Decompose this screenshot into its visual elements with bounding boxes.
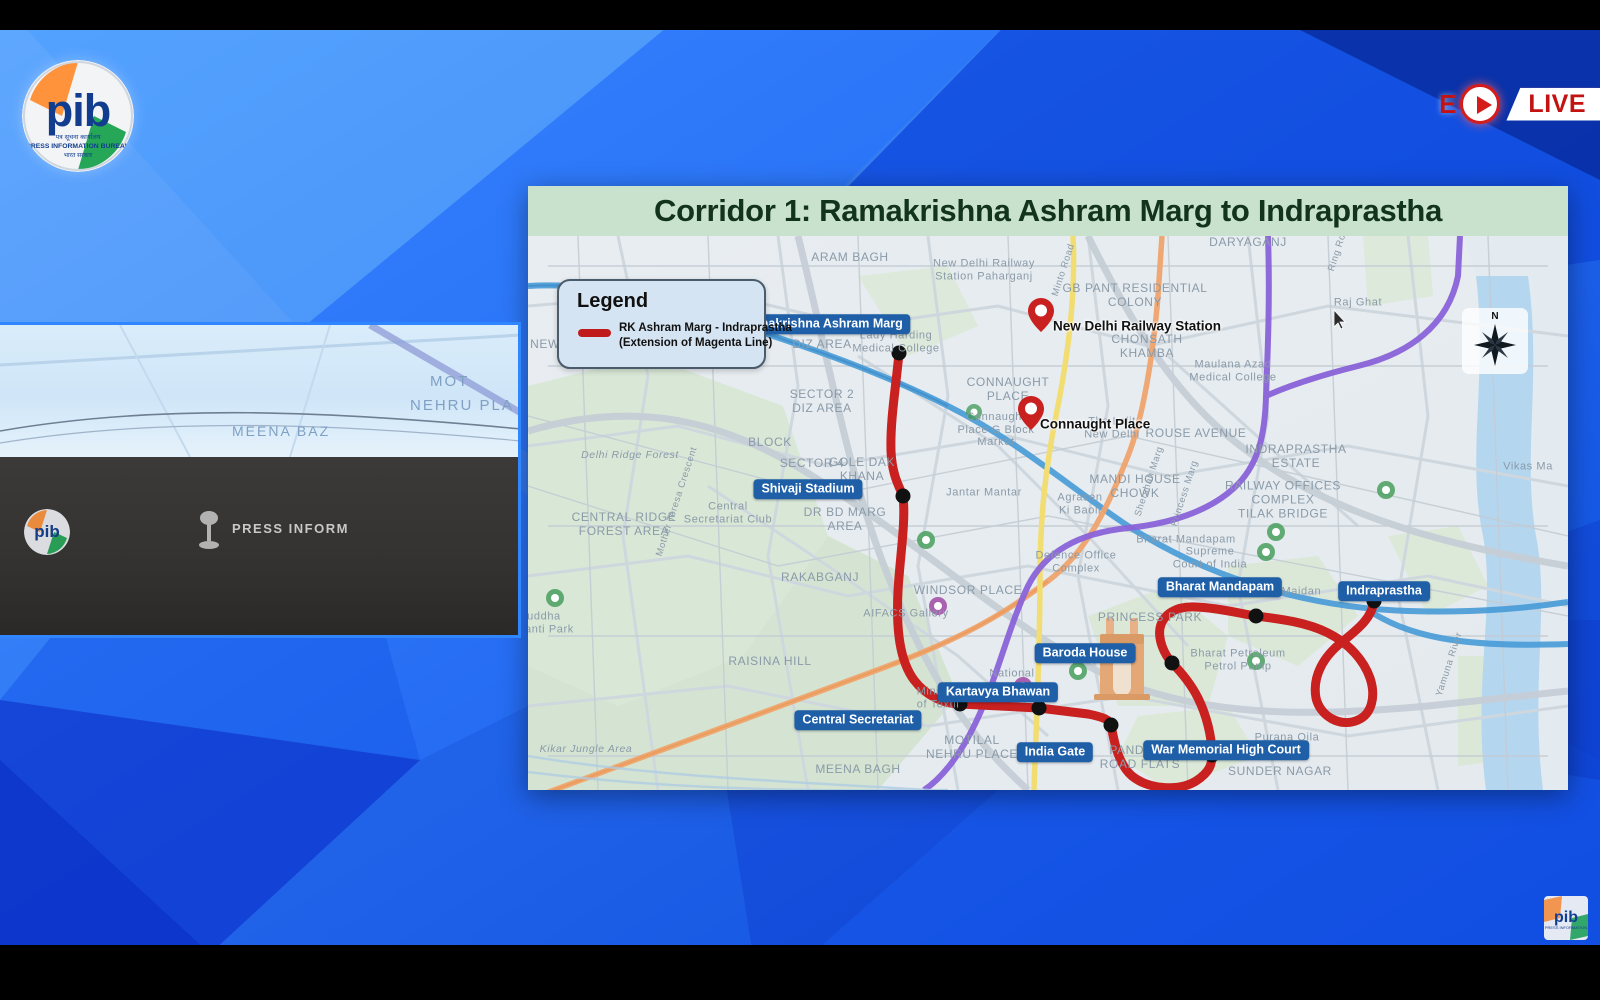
svg-text:pib: pib bbox=[34, 522, 60, 541]
legend-heading: Legend bbox=[577, 290, 648, 313]
legend-entry-line-2: (Extension of Magenta Line) bbox=[619, 337, 772, 349]
station-label-kartavya-bhawan[interactable]: Kartavya Bhawan bbox=[938, 682, 1058, 702]
broadcast-stage: pib पत्र सूचना कार्यालय PRESS INFORMATIO… bbox=[0, 0, 1600, 1000]
presenter-video-inset: MEENA BAZ MOT NEHRU PLA pib bbox=[0, 322, 521, 638]
live-prefix-text: E bbox=[1439, 89, 1454, 120]
poi-label-new-delhi-railway-station: New Delhi Railway Station bbox=[1053, 319, 1221, 333]
station-label-baroda-house[interactable]: Baroda House bbox=[1035, 643, 1136, 663]
svg-text:भारत सरकार: भारत सरकार bbox=[64, 153, 93, 159]
compass-north-label: N bbox=[1462, 311, 1528, 322]
compass-rose-icon: N bbox=[1462, 308, 1528, 374]
slide-title: Corridor 1: Ramakrishna Ashram Marg to I… bbox=[654, 193, 1442, 229]
backdrop-press-text: PRESS INFORM bbox=[232, 521, 349, 536]
letterbox-top bbox=[0, 0, 1600, 30]
mouse-cursor bbox=[1334, 310, 1348, 330]
svg-text:pib: pib bbox=[46, 85, 110, 136]
presentation-slide: Corridor 1: Ramakrishna Ashram Marg to I… bbox=[528, 186, 1568, 790]
svg-text:pib: pib bbox=[1554, 909, 1578, 926]
screen-text-moti: MOT bbox=[430, 373, 469, 390]
station-label-indraprastha[interactable]: Indraprastha bbox=[1338, 581, 1430, 601]
backdrop-pib-logo: pib bbox=[24, 509, 70, 555]
delhi-metro-corridor-map[interactable]: ARAM BAGHDARYAGANJRaj GhatGB PANT RESIDE… bbox=[528, 236, 1568, 790]
slide-title-bar: Corridor 1: Ramakrishna Ashram Marg to I… bbox=[528, 186, 1568, 236]
poi-label-connaught-place: Connaught Place bbox=[1040, 417, 1150, 431]
station-label-war-memorial-high-court[interactable]: War Memorial High Court bbox=[1143, 740, 1309, 760]
svg-text:PRESS INFORMATION: PRESS INFORMATION bbox=[1545, 925, 1587, 930]
station-label-central-secretariat[interactable]: Central Secretariat bbox=[794, 710, 921, 730]
legend-color-swatch bbox=[578, 329, 611, 337]
svg-text:PRESS INFORMATION BUREAU: PRESS INFORMATION BUREAU bbox=[26, 143, 129, 150]
national-emblem-icon bbox=[196, 505, 222, 557]
station-label-bharat-mandapam[interactable]: Bharat Mandapam bbox=[1158, 577, 1282, 597]
live-label: LIVE bbox=[1506, 88, 1600, 121]
svg-text:पत्र सूचना कार्यालय: पत्र सूचना कार्यालय bbox=[55, 133, 100, 141]
pib-watermark: pib PRESS INFORMATION bbox=[1544, 896, 1588, 940]
map-legend: Legend RK Ashram Marg - Indraprastha (Ex… bbox=[557, 279, 766, 369]
live-badge: E LIVE bbox=[1439, 84, 1600, 124]
legend-entry-line-1: RK Ashram Marg - Indraprastha bbox=[619, 322, 792, 334]
map-pin-icon[interactable] bbox=[1028, 298, 1054, 332]
pib-logo: pib पत्र सूचना कार्यालय PRESS INFORMATIO… bbox=[22, 60, 134, 172]
projection-screen: MEENA BAZ MOT NEHRU PLA bbox=[0, 325, 518, 457]
press-backdrop-wall: pib PRESS INFORM bbox=[0, 457, 518, 638]
station-label-india-gate[interactable]: India Gate bbox=[1017, 742, 1093, 762]
play-icon bbox=[1460, 84, 1500, 124]
screen-text-nehru-place: NEHRU PLA bbox=[410, 397, 514, 414]
screen-text-meena-bazar: MEENA BAZ bbox=[232, 423, 330, 439]
station-label-shivaji-stadium[interactable]: Shivaji Stadium bbox=[753, 479, 862, 499]
letterbox-bottom bbox=[0, 945, 1600, 1000]
